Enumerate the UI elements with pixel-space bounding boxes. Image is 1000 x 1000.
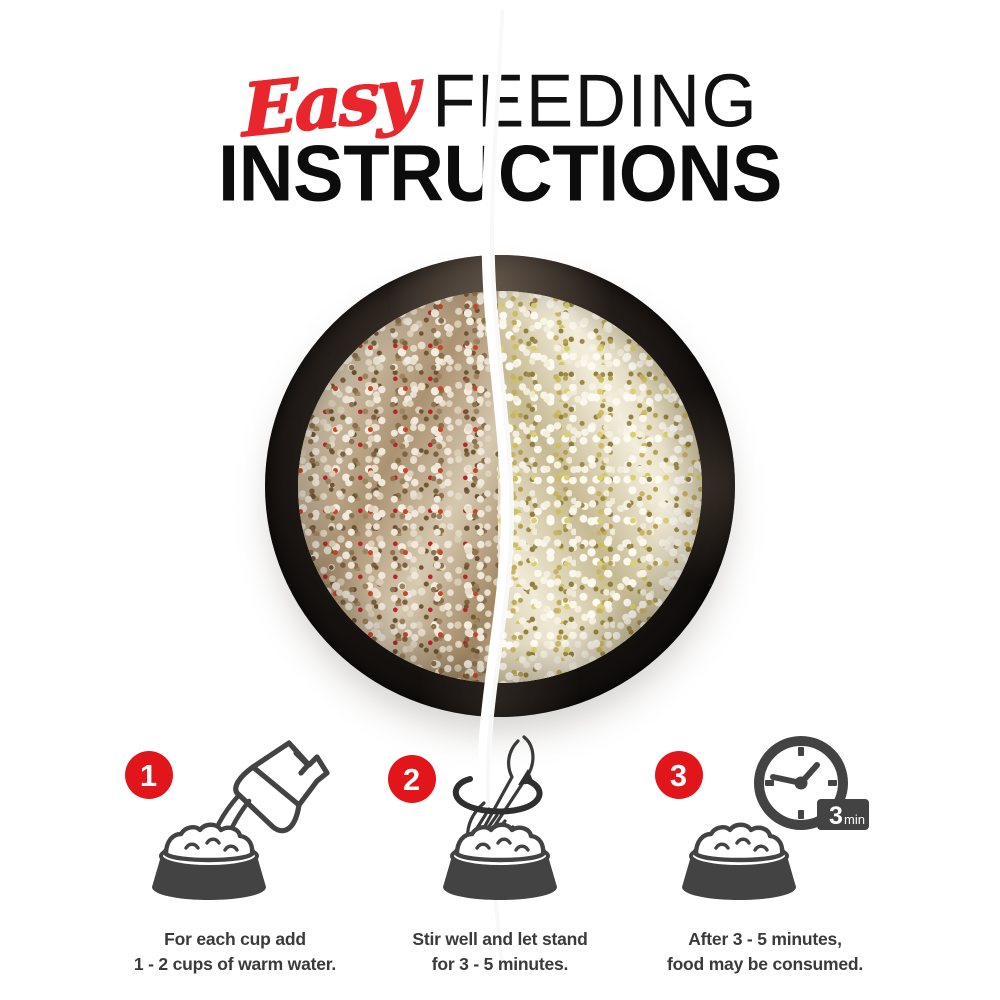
step-3: 3 [633,735,898,985]
step-3-caption: After 3 - 5 minutes, food may be consume… [633,927,898,977]
bowl-container [247,237,753,727]
food-vignette [298,291,702,683]
timer-value: 3 [829,802,843,830]
timer-unit: min [844,812,865,827]
fork-stirring-bowl-icon [368,735,633,900]
steps-row: 1 [0,735,1000,1000]
step-3-caption-line-1: After 3 - 5 minutes, [633,927,898,952]
step-3-caption-line-2: food may be consumed. [633,952,898,977]
bowl-exterior [265,255,735,717]
step-1-caption: For each cup add 1 - 2 cups of warm wate… [103,927,368,977]
step-2: 2 [368,735,633,985]
step-1: 1 [103,735,368,985]
header: Easy FEEDING INSTRUCTIONS [0,0,1000,225]
food-bowl-shape [682,825,796,900]
instructions-word: INSTRUCTIONS [218,134,782,214]
step-1-caption-line-1: For each cup add [103,927,368,952]
timer-minutes-badge: 3 min [817,799,869,830]
step-3-artwork: 3 [633,735,898,900]
feeding-word: FEEDING [432,68,758,136]
title-line-one: Easy FEEDING [0,46,1000,136]
step-2-artwork: 2 [368,735,633,900]
clock-timer-with-bowl-icon: 3 min [633,735,898,900]
food-bowl-shape [152,825,266,900]
step-1-artwork: 1 [103,735,368,900]
bowl-interior [298,291,702,683]
step-1-caption-line-2: 1 - 2 cups of warm water. [103,952,368,977]
measuring-cup-pouring-water-into-bowl-icon [103,735,368,900]
step-2-caption: Stir well and let stand for 3 - 5 minute… [368,927,633,977]
hero-bowl-photo [0,225,1000,735]
title-line-two: INSTRUCTIONS [0,136,1000,212]
step-2-caption-line-1: Stir well and let stand [368,927,633,952]
food-bowl-shape [443,825,557,900]
step-2-caption-line-2: for 3 - 5 minutes. [368,952,633,977]
